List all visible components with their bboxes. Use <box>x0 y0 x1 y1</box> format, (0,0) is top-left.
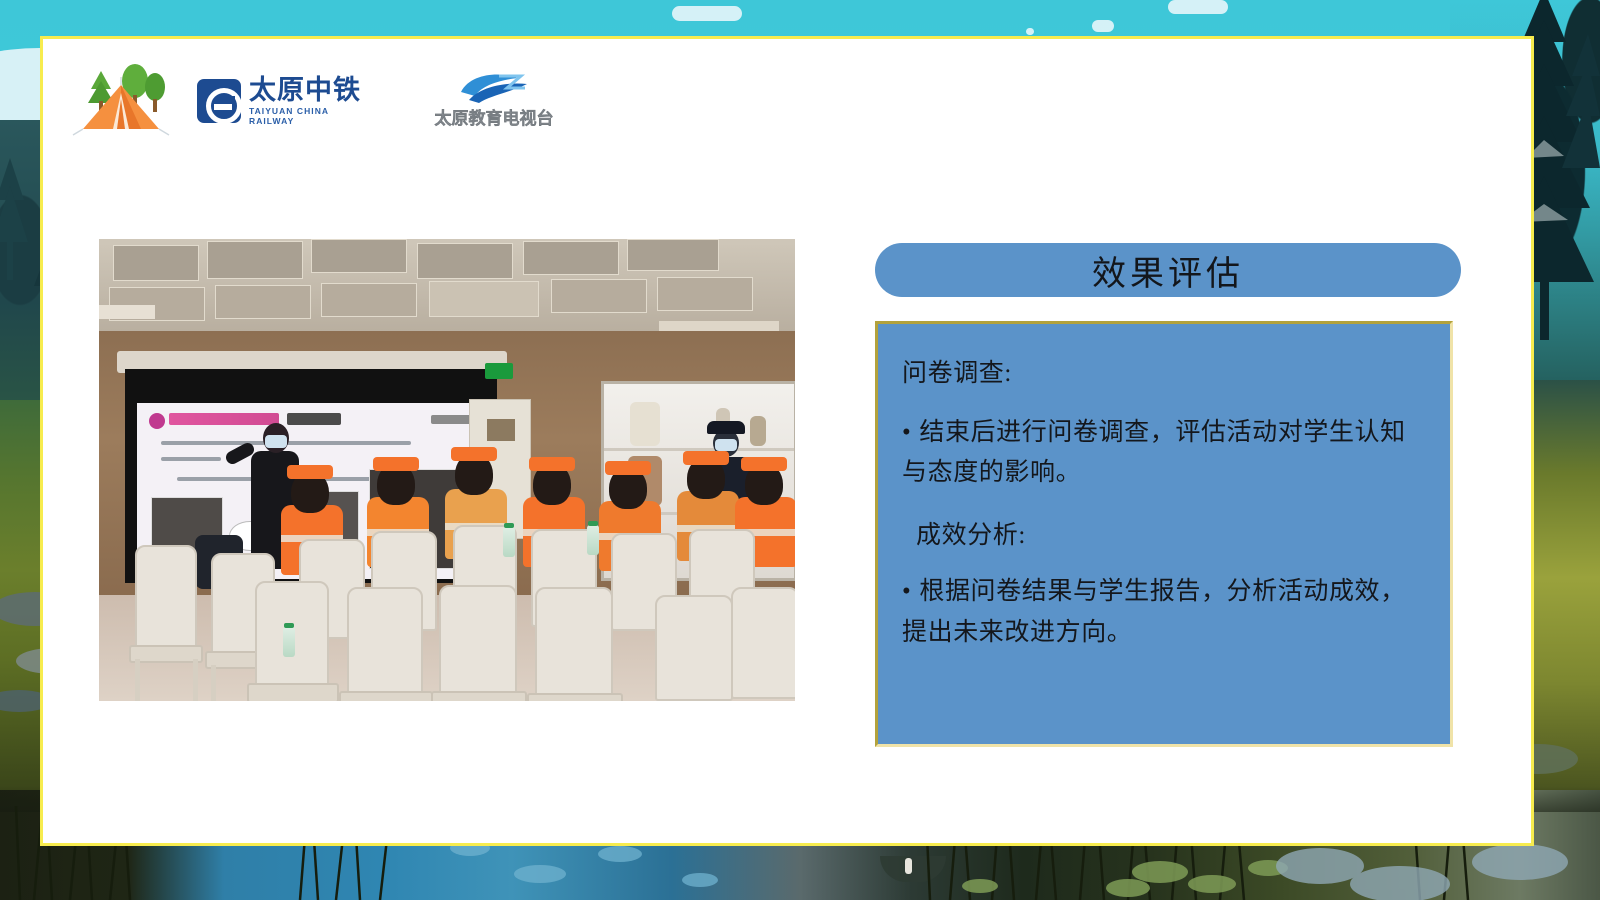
slide-bullet-dot <box>149 413 165 429</box>
content-box: 问卷调查: •结束后进行问卷调查，评估活动对学生认知与态度的影响。 成效分析: … <box>875 321 1453 747</box>
chair <box>655 595 733 701</box>
tv-logo-cn: 太原教育电视台 <box>429 104 559 129</box>
railway-logo-en: TAIYUAN CHINA RAILWAY <box>249 106 377 126</box>
water-bottle-cap <box>504 523 514 528</box>
chair-leg <box>135 659 140 701</box>
water-bottle <box>587 525 599 555</box>
ceiling-tile <box>523 241 619 275</box>
ceiling-tile <box>321 283 417 317</box>
ceiling-tile <box>627 239 719 271</box>
chair-seat <box>129 645 203 663</box>
student-orange-cap <box>605 461 651 475</box>
content-bullet-2: •根据问卷结果与学生报告，分析活动成效，提出未来改进方向。 <box>902 572 1424 653</box>
page-title: 效果评估 <box>1092 246 1244 295</box>
student-orange-cap <box>683 451 729 465</box>
slide-text-line <box>161 457 221 461</box>
chair-seat <box>247 683 339 701</box>
slide-card: 太原中铁 TAIYUAN CHINA RAILWAY 太原教育电视台 <box>40 36 1534 846</box>
ceiling-tile <box>113 245 199 281</box>
taiyuan-china-railway-logo: 太原中铁 TAIYUAN CHINA RAILWAY <box>197 73 377 129</box>
water-bottle-cap <box>588 521 598 526</box>
cloud-shape <box>1026 28 1034 35</box>
logo-row: 太原中铁 TAIYUAN CHINA RAILWAY 太原教育电视台 <box>71 59 559 143</box>
ceiling-tile <box>215 285 311 319</box>
ceiling-tile <box>311 239 407 273</box>
chair <box>135 545 197 651</box>
cabinet-poster <box>630 402 660 446</box>
content-heading-2: 成效分析: <box>902 516 1424 557</box>
classroom-safety-lecture-photo <box>99 239 795 701</box>
bullet-icon: • <box>902 578 911 605</box>
slide-root: 太原中铁 TAIYUAN CHINA RAILWAY 太原教育电视台 <box>0 0 1600 900</box>
content-bullet-1: •结束后进行问卷调查，评估活动对学生认知与态度的影响。 <box>902 413 1424 494</box>
ceiling-light <box>99 305 155 319</box>
cabinet-item <box>750 416 766 446</box>
water-bottle <box>283 627 295 657</box>
student-orange-cap <box>373 457 419 471</box>
railway-staff-face-mask <box>715 439 737 451</box>
cloud-shape <box>1168 0 1228 14</box>
cloud-shape <box>672 6 742 21</box>
chair-leg <box>193 659 198 701</box>
student-orange-cap <box>529 457 575 471</box>
content-bullet-2-text: 根据问卷结果与学生报告，分析活动成效，提出未来改进方向。 <box>902 578 1406 646</box>
student-orange-cap <box>741 457 787 471</box>
railway-staff-cap <box>707 421 745 434</box>
chair <box>439 585 517 699</box>
ac-vent <box>429 281 539 317</box>
taiyuan-education-tv-logo: 太原教育电视台 <box>429 70 559 132</box>
tent-icon <box>71 59 175 143</box>
presenter-face-mask <box>265 435 287 448</box>
camping-tent-logo <box>71 59 175 143</box>
slide-subtitle-bar <box>287 413 341 425</box>
chair <box>731 587 795 699</box>
chair-seat <box>431 691 527 701</box>
chair-seat <box>527 693 623 701</box>
railway-logo-cn: 太原中铁 <box>249 76 377 104</box>
ceiling-tile <box>657 277 753 311</box>
content-bullet-1-text: 结束后进行问卷调查，评估活动对学生认知与态度的影响。 <box>902 419 1406 487</box>
section-title-banner: 效果评估 <box>875 243 1461 297</box>
ceiling-tile <box>417 243 513 279</box>
chair-leg <box>211 665 216 701</box>
cloud-shape <box>1092 20 1114 32</box>
railway-logo-text: 太原中铁 TAIYUAN CHINA RAILWAY <box>249 76 377 126</box>
chair <box>535 587 613 701</box>
exit-sign-icon <box>485 363 513 379</box>
tv-swoosh-icon <box>455 70 533 104</box>
water-bottle <box>503 527 515 557</box>
student-orange-cap <box>287 465 333 479</box>
ceiling-tile <box>551 279 647 313</box>
chair <box>347 587 423 699</box>
bullet-icon: • <box>902 419 911 446</box>
chair-seat <box>339 691 433 701</box>
ceiling-tile <box>207 241 303 279</box>
student-orange-cap <box>451 447 497 461</box>
door-sign <box>487 419 515 441</box>
content-heading-1: 问卷调查: <box>902 354 1424 395</box>
railway-mark-icon <box>197 79 241 123</box>
slide-title-bar <box>169 413 279 425</box>
water-bottle-cap <box>284 623 294 628</box>
